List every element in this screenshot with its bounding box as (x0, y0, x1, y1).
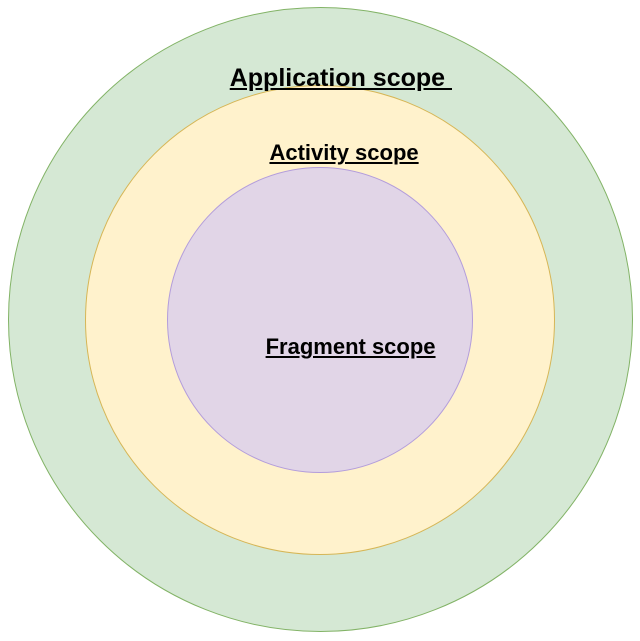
scope-circle-activity[interactable]: Fragment scope Activity scope (85, 85, 555, 555)
scope-label-application-text: Application scope (230, 64, 452, 92)
scope-circle-fragment[interactable]: Fragment scope (167, 167, 473, 473)
diagram-canvas: Fragment scope Activity scope Applicatio… (0, 0, 640, 641)
scope-label-fragment: Fragment scope (168, 308, 472, 387)
scope-circle-application[interactable]: Fragment scope Activity scope Applicatio… (8, 7, 633, 632)
scope-label-activity: Activity scope (86, 114, 554, 193)
scope-label-activity-text: Activity scope (269, 140, 418, 165)
scope-label-application: Application scope (9, 33, 632, 123)
scope-label-fragment-text: Fragment scope (266, 334, 436, 359)
